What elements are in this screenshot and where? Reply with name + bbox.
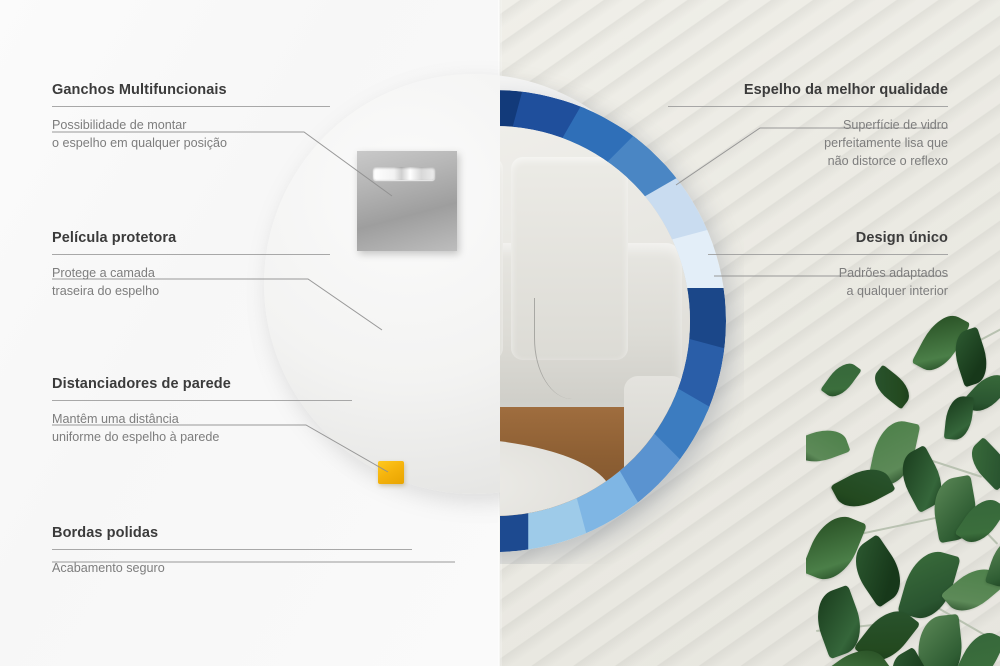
label-rule (668, 106, 948, 107)
foliage-leaf (944, 395, 974, 441)
feature-label-polished-edges: Bordas polidas Acabamento seguro (52, 525, 412, 577)
feature-label-unique-design: Design único Padrões adaptados a qualque… (708, 230, 948, 300)
feature-description: Mantêm uma distância uniforme do espelho… (52, 410, 352, 447)
hook-slot-icon (373, 167, 435, 180)
feature-description: Acabamento seguro (52, 559, 412, 577)
feature-label-best-quality-mirror: Espelho da melhor qualidade Superfície d… (668, 82, 948, 170)
foliage-leaf (806, 423, 851, 469)
feature-title: Distanciadores de parede (52, 376, 352, 393)
feature-description: Possibilidade de montar o espelho em qua… (52, 116, 330, 153)
infographic-canvas: Ganchos Multifuncionais Possibilidade de… (0, 0, 1000, 666)
label-rule (52, 106, 330, 107)
feature-description: Protege a camada traseira do espelho (52, 264, 330, 301)
feature-label-protective-film: Película protetora Protege a camada tras… (52, 230, 330, 300)
foliage-leaf (985, 533, 1000, 592)
feature-title: Espelho da melhor qualidade (668, 82, 948, 99)
feature-label-wall-spacers: Distanciadores de parede Mantêm uma dist… (52, 376, 352, 446)
feature-description: Padrões adaptados a qualquer interior (708, 264, 948, 301)
label-rule (52, 400, 352, 401)
feature-title: Ganchos Multifuncionais (52, 82, 330, 99)
label-rule (708, 254, 948, 255)
feature-title: Bordas polidas (52, 525, 412, 542)
feature-label-hooks: Ganchos Multifuncionais Possibilidade de… (52, 82, 330, 152)
reflection-cushion (500, 157, 503, 360)
wall-spacer-part (378, 461, 404, 484)
decorative-foliage (806, 300, 1000, 666)
foliage-leaf (868, 365, 916, 410)
reflection-sofa-arm (624, 376, 686, 509)
label-rule (52, 254, 330, 255)
feature-title: Design único (708, 230, 948, 247)
mounting-hook-plate (357, 151, 457, 251)
feature-title: Película protetora (52, 230, 330, 247)
foliage-leaf (820, 357, 861, 402)
mirror-glass (500, 126, 690, 516)
feature-description: Superfície de vidro perfeitamente lisa q… (668, 116, 948, 171)
label-rule (52, 549, 412, 550)
foliage-leaf (915, 614, 966, 666)
